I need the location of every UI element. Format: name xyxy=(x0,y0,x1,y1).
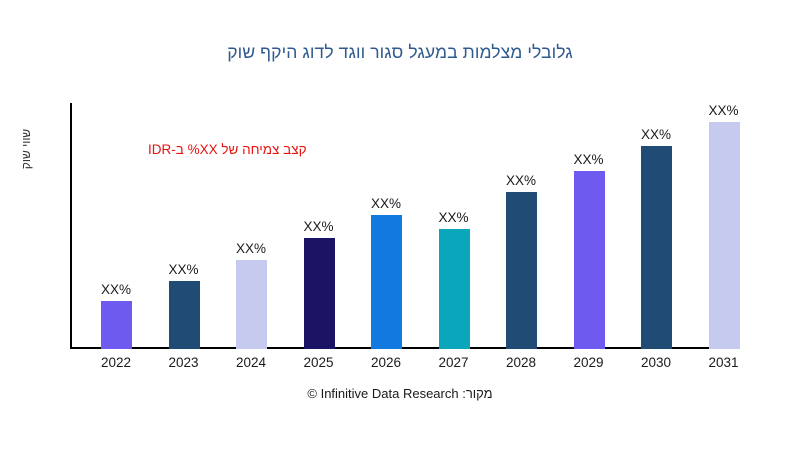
x-tick-label: 2031 xyxy=(690,355,758,370)
bar-value-label: XX% xyxy=(420,210,488,225)
y-axis-title: שווי שוק xyxy=(19,104,33,194)
bar-group[interactable]: XX% xyxy=(420,103,488,349)
bar-value-label: XX% xyxy=(352,196,420,211)
chart-title: גלובלי מצלמות במעגל סגור ווגד לדוג היקף … xyxy=(0,42,800,63)
bar[interactable] xyxy=(236,260,267,349)
bar[interactable] xyxy=(574,171,605,349)
bar-value-label: XX% xyxy=(487,173,555,188)
bar-group[interactable]: XX% xyxy=(150,103,218,349)
bar-group[interactable]: XX% xyxy=(690,103,758,349)
bar[interactable] xyxy=(101,301,132,349)
bar-value-label: XX% xyxy=(150,262,218,277)
bar[interactable] xyxy=(641,146,672,349)
bar[interactable] xyxy=(709,122,740,349)
bar[interactable] xyxy=(506,192,537,349)
bar-group[interactable]: XX% xyxy=(217,103,285,349)
x-tick-label: 2025 xyxy=(285,355,353,370)
bar[interactable] xyxy=(371,215,402,349)
bar-value-label: XX% xyxy=(690,103,758,118)
bar-group[interactable]: XX% xyxy=(285,103,353,349)
x-tick-label: 2027 xyxy=(420,355,488,370)
x-tick-label: 2030 xyxy=(622,355,690,370)
x-tick-label: 2026 xyxy=(352,355,420,370)
bar-group[interactable]: XX% xyxy=(487,103,555,349)
bar-value-label: XX% xyxy=(555,152,623,167)
bar-group[interactable]: XX% xyxy=(82,103,150,349)
x-tick-label: 2022 xyxy=(82,355,150,370)
x-tick-label: 2024 xyxy=(217,355,285,370)
x-tick-label: 2023 xyxy=(150,355,218,370)
x-tick-label: 2029 xyxy=(555,355,623,370)
x-axis-tick-labels: 2022202320242025202620272028202920302031 xyxy=(70,355,780,377)
bar-series: XX%XX%XX%XX%XX%XX%XX%XX%XX%XX% xyxy=(70,103,780,349)
bar-value-label: XX% xyxy=(217,241,285,256)
bar-group[interactable]: XX% xyxy=(622,103,690,349)
bar-value-label: XX% xyxy=(285,219,353,234)
bar[interactable] xyxy=(439,229,470,349)
bar-group[interactable]: XX% xyxy=(352,103,420,349)
bar[interactable] xyxy=(304,238,335,349)
bar-group[interactable]: XX% xyxy=(555,103,623,349)
bar-value-label: XX% xyxy=(82,282,150,297)
source-attribution: מקור: Infinitive Data Research © xyxy=(0,386,800,401)
growth-rate-annotation: קצב צמיחה של XX% ב-IDR xyxy=(148,142,307,157)
chart-container: גלובלי מצלמות במעגל סגור ווגד לדוג היקף … xyxy=(0,0,800,450)
x-tick-label: 2028 xyxy=(487,355,555,370)
bar-value-label: XX% xyxy=(622,127,690,142)
bar[interactable] xyxy=(169,281,200,349)
